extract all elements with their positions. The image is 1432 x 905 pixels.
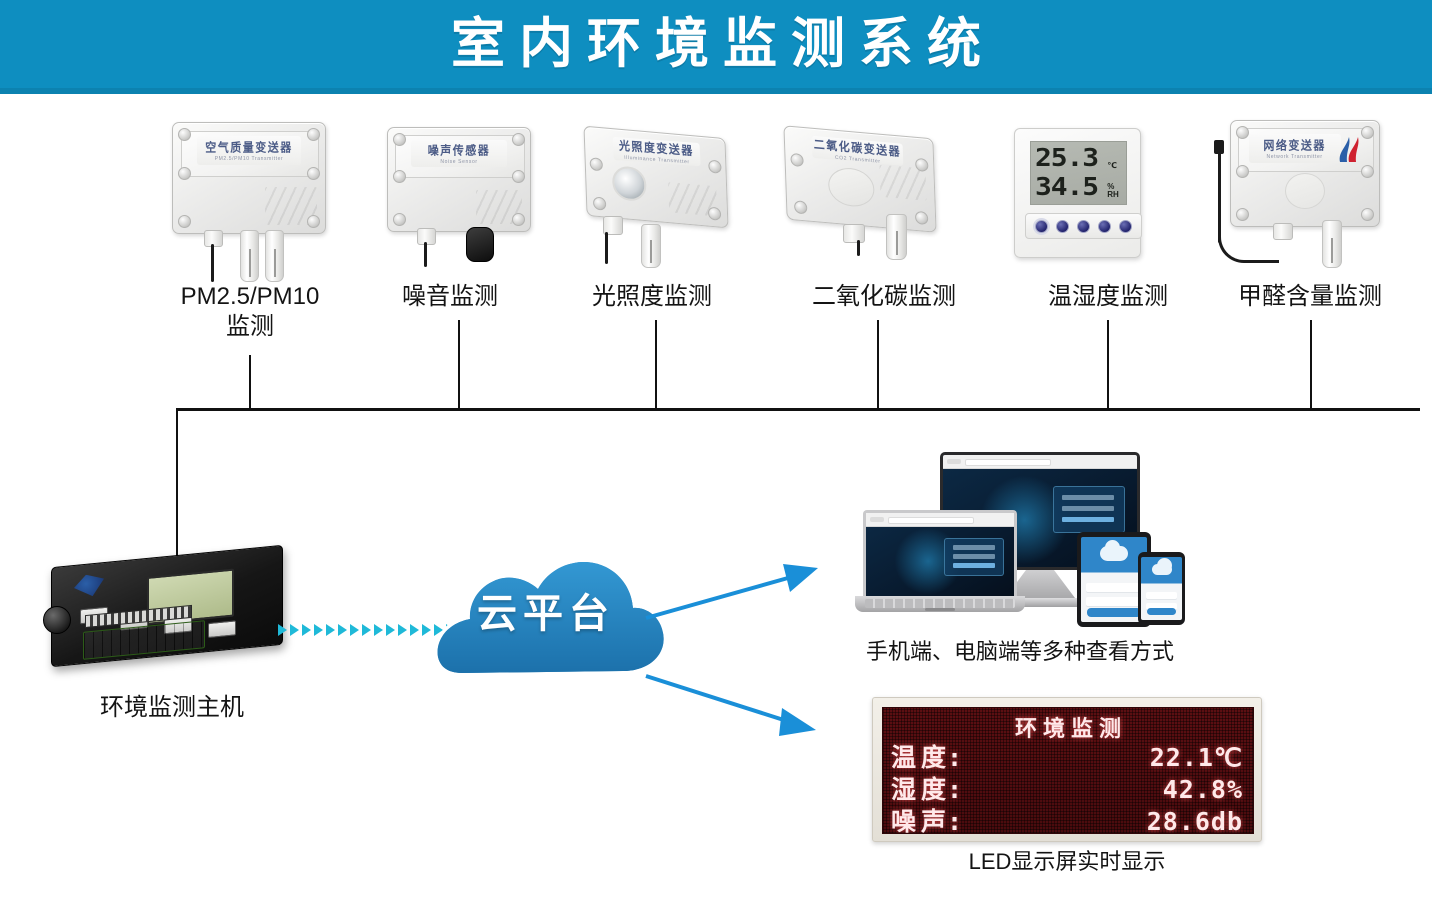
screw-icon xyxy=(178,128,191,141)
app-action-button[interactable] xyxy=(1087,608,1141,617)
sensor-nameplate: 网络变送器 Network Transmitter xyxy=(1249,134,1341,163)
sensor-nameplate: 光照度变送器 Illuminance Transmitter xyxy=(613,137,701,166)
light-dome-icon xyxy=(612,165,647,202)
sensor-nameplate-en: Noise Sensor xyxy=(440,159,477,165)
led-row-mid: 声: xyxy=(921,802,991,834)
bus-drop-noise xyxy=(458,320,460,409)
sensor-label-formaldehyde: 甲醛含量监测 xyxy=(1186,282,1432,312)
led-row-value: 22.1℃ xyxy=(991,743,1243,772)
laptop-base xyxy=(855,596,1025,612)
sensor-nameplate-en: PM2.5/PM10 Transmitter xyxy=(215,156,284,162)
sensor-body: 空气质量变送器 PM2.5/PM10 Transmitter xyxy=(172,122,326,234)
sensor-nameplate-en: Network Transmitter xyxy=(1267,154,1323,160)
app-cloud-icon xyxy=(1100,546,1128,561)
led-row-key: 湿 xyxy=(891,770,921,806)
cable-bend xyxy=(1218,232,1279,263)
login-panel xyxy=(944,538,1004,576)
browser-toolbar xyxy=(943,455,1137,469)
unit-button-2[interactable] xyxy=(1056,220,1069,233)
bus-drop-to-host xyxy=(176,408,178,556)
sensor-cable xyxy=(857,240,860,256)
sensor-nameplate: 空气质量变送器 PM2.5/PM10 Transmitter xyxy=(197,136,300,165)
sensor-nameplate-cn: 二氧化碳变送器 xyxy=(813,135,901,160)
host-antenna-connector xyxy=(43,606,71,634)
sensor-nameplate-cn: 噪声传感器 xyxy=(428,141,491,159)
lcd-display: 25.3 ℃ 34.5 % RH xyxy=(1030,141,1127,205)
screw-icon xyxy=(512,213,525,226)
screw-icon xyxy=(1361,208,1374,221)
brand-flame-icon xyxy=(1337,136,1363,163)
cable-connector xyxy=(1214,140,1224,154)
sensor-recess-circle xyxy=(828,166,875,208)
probe-tube xyxy=(265,230,284,282)
screw-icon xyxy=(1361,165,1374,178)
led-row-key: 温 xyxy=(891,738,921,774)
cable-gland xyxy=(843,224,865,243)
sensor-body: 网络变送器 Network Transmitter xyxy=(1230,120,1380,227)
laptop-screen xyxy=(863,510,1017,596)
screw-icon xyxy=(307,167,320,180)
devices-caption: 手机端、电脑端等多种查看方式 xyxy=(820,638,1220,666)
humidity-unit-rh: RH xyxy=(1107,191,1119,199)
host-brand-icon xyxy=(74,573,104,598)
screw-icon xyxy=(915,211,928,225)
screw-icon xyxy=(512,133,525,146)
screw-icon xyxy=(393,213,406,226)
screw-icon xyxy=(512,170,525,183)
probe-tube xyxy=(641,224,661,268)
screw-icon xyxy=(790,153,803,167)
screw-icon xyxy=(393,133,406,146)
bus-drop-co2 xyxy=(877,320,879,409)
sensor-body: 噪声传感器 Noise Sensor xyxy=(387,127,531,232)
sensor-nameplate-cn: 网络变送器 xyxy=(1263,136,1326,154)
page-banner: 室内环境监测系统 xyxy=(0,0,1432,94)
led-row-key: 噪 xyxy=(891,802,921,834)
humidity-value: 34.5 xyxy=(1035,174,1098,199)
app-cloud-icon xyxy=(1152,564,1172,575)
sensor-label-pm-line2: 监测 xyxy=(120,312,380,342)
sensor-co2: 二氧化碳变送器 CO2 Transmitter xyxy=(785,132,945,262)
sensor-nameplate: 噪声传感器 Noise Sensor xyxy=(411,140,508,167)
screw-icon xyxy=(593,196,606,210)
laptop-keyboard xyxy=(865,599,1015,608)
wall-unit-body: 25.3 ℃ 34.5 % RH xyxy=(1014,128,1141,258)
bus-drop-illuminance xyxy=(655,320,657,409)
led-caption: LED显示屏实时显示 xyxy=(872,848,1262,876)
probe-tube xyxy=(886,214,907,260)
led-row-mid: 度: xyxy=(921,738,991,774)
unit-button-4[interactable] xyxy=(1098,220,1111,233)
led-row-mid: 度: xyxy=(921,770,991,806)
cloud-label: 云平台 xyxy=(418,581,668,639)
sensor-noise: 噪声传感器 Noise Sensor xyxy=(387,127,532,267)
led-row-humidity: 湿 度: 42.8% xyxy=(891,770,1243,806)
bus-drop-temp-humidity xyxy=(1107,320,1109,409)
host-button-4[interactable] xyxy=(208,620,236,638)
screw-icon xyxy=(1361,126,1374,139)
bus-line-horizontal xyxy=(176,408,1420,411)
sensor-cable xyxy=(424,242,427,267)
led-row-value: 28.6db xyxy=(991,807,1243,834)
sensor-air-quality: 空气质量变送器 PM2.5/PM10 Transmitter xyxy=(172,122,324,282)
screw-icon xyxy=(307,215,320,228)
screw-icon xyxy=(708,207,721,221)
phone-app-screen xyxy=(1141,557,1182,620)
probe-tube xyxy=(240,230,259,282)
browser-toolbar xyxy=(866,513,1014,527)
bus-drop-formaldehyde xyxy=(1310,320,1312,409)
laptop xyxy=(855,510,1025,610)
screw-icon xyxy=(590,157,603,171)
sensor-cable xyxy=(605,232,608,264)
led-display-board: 环境监测 温 度: 22.1℃ 湿 度: 42.8% 噪 声: 28.6db xyxy=(872,697,1262,842)
screw-icon xyxy=(1236,208,1249,221)
smartphone xyxy=(1138,552,1185,625)
unit-button-3[interactable] xyxy=(1077,220,1090,233)
unit-button-5[interactable] xyxy=(1119,220,1132,233)
screw-icon xyxy=(178,215,191,228)
multi-device-cluster xyxy=(855,452,1185,627)
environment-monitor-host xyxy=(45,548,295,668)
led-row-temperature: 温 度: 22.1℃ xyxy=(891,738,1243,774)
sensor-nameplate: 二氧化碳变送器 CO2 Transmitter xyxy=(811,136,903,166)
temperature-unit: ℃ xyxy=(1107,161,1117,170)
probe-tube xyxy=(1322,220,1342,268)
sensor-body: 光照度变送器 Illuminance Transmitter xyxy=(583,126,728,229)
screw-icon xyxy=(178,167,191,180)
screw-icon xyxy=(1236,126,1249,139)
data-flow-arrows xyxy=(278,622,428,638)
unit-button-1[interactable] xyxy=(1035,220,1048,233)
sensor-cable xyxy=(211,244,214,282)
screw-icon xyxy=(307,128,320,141)
wall-unit-button-bar[interactable] xyxy=(1025,213,1142,239)
sensor-body: 二氧化碳变送器 CO2 Transmitter xyxy=(783,125,936,233)
screw-icon xyxy=(1236,165,1249,178)
microphone-capsule xyxy=(466,227,494,262)
login-panel xyxy=(1053,486,1125,533)
host-label: 环境监测主机 xyxy=(52,693,292,723)
sensor-cable xyxy=(1218,148,1221,243)
led-screen: 环境监测 温 度: 22.1℃ 湿 度: 42.8% 噪 声: 28.6db xyxy=(882,707,1254,834)
sensor-nameplate-cn: 空气质量变送器 xyxy=(205,138,293,156)
led-row-value: 42.8% xyxy=(991,775,1243,804)
led-row-noise: 噪 声: 28.6db xyxy=(891,802,1243,834)
sensor-illuminance: 光照度变送器 Illuminance Transmitter xyxy=(585,132,740,267)
sensor-formaldehyde: 网络变送器 Network Transmitter xyxy=(1218,120,1383,270)
screw-icon xyxy=(708,160,721,174)
screw-icon xyxy=(794,200,807,214)
bus-drop-pm xyxy=(249,355,251,409)
page-title: 室内环境监测系统 xyxy=(437,17,995,71)
sensor-recess-circle xyxy=(1285,173,1325,209)
app-action-button[interactable] xyxy=(1147,608,1176,615)
temperature-value: 25.3 xyxy=(1035,145,1098,170)
screw-icon xyxy=(393,170,406,183)
